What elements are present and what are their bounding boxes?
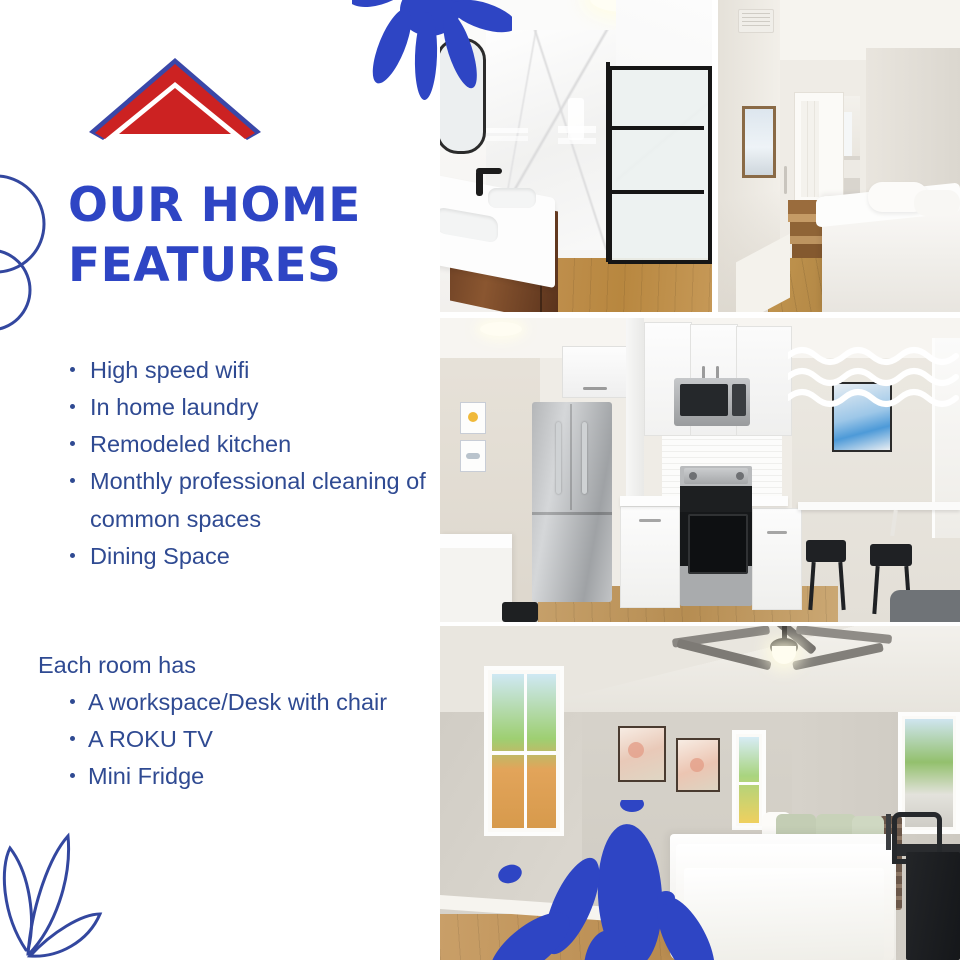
title-line-2: FEATURES [68,236,428,296]
list-item: Monthly professional cleaning of common … [88,463,448,537]
recessed-light-icon [480,322,522,336]
refrigerator [532,402,612,602]
list-item: Dining Space [88,538,448,575]
features-list: High speed wifi In home laundry Remodele… [62,352,448,575]
glass-shower-door [608,66,712,264]
bar-stool [870,544,912,566]
faucet-icon [476,170,483,196]
framed-art [742,106,776,178]
left-text-panel: OUR HOME FEATURES High speed wifi In hom… [0,0,440,960]
list-item: A workspace/Desk with chair [88,684,450,721]
each-room-heading: Each room has [38,650,418,681]
house-roof-chevron-logo [85,52,265,144]
page-title: OUR HOME FEATURES [68,176,428,295]
blue-paint-splat-icon [352,0,512,106]
blue-paint-splash-icon [480,800,740,960]
each-room-list: A workspace/Desk with chair A ROKU TV Mi… [62,684,450,795]
framed-art [676,738,720,792]
mini-fridge [906,852,960,960]
bar-stool [806,540,846,562]
bar-shelf [798,502,960,510]
air-vent-icon [738,9,774,33]
poster-canvas: OUR HOME FEATURES High speed wifi In hom… [0,0,960,960]
list-item: Mini Fridge [88,758,450,795]
list-item: Remodeled kitchen [88,426,448,463]
framed-art [618,726,666,782]
white-wavy-lines-icon [788,346,960,408]
blue-circle-outlines-icon [0,162,72,352]
doorway [794,92,844,206]
blue-leaf-outline-icon [0,818,146,958]
list-item: In home laundry [88,389,448,426]
list-item: A ROKU TV [88,721,450,758]
list-item: High speed wifi [88,352,448,389]
photo-hallway-laundry [718,0,960,312]
photo-kitchen [440,318,960,622]
title-line-1: OUR HOME [68,178,361,233]
